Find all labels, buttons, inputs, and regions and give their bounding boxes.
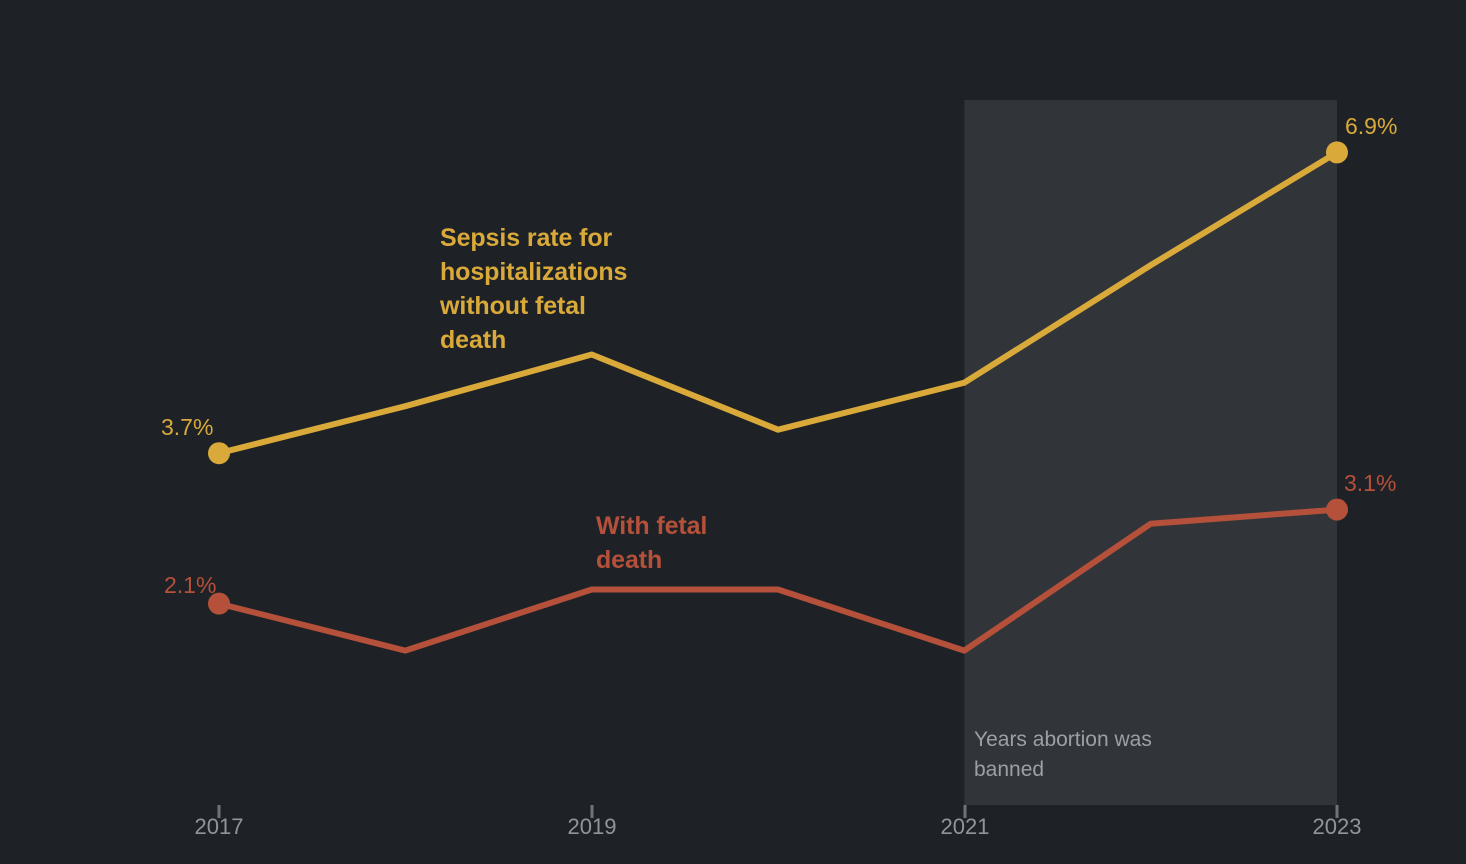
shaded-band-years-abortion-banned [964, 100, 1337, 805]
value-label-no-fetal-death-end: 6.9% [1345, 113, 1397, 140]
x-axis-label-2017: 2017 [195, 814, 244, 840]
x-axis-label-2019: 2019 [568, 814, 617, 840]
x-axis-ticks [219, 805, 1337, 818]
series-label-with-fetal-death: With fetal death [596, 509, 786, 577]
band-annotation-years-abortion-banned: Years abortion was banned [974, 725, 1214, 785]
marker-no-fetal-death-2023 [1326, 141, 1348, 163]
series-label-no-fetal-death: Sepsis rate for hospitalizations without… [440, 221, 670, 357]
x-axis-label-2023: 2023 [1313, 814, 1362, 840]
chart-container: Sepsis rate for hospitalizations without… [0, 0, 1466, 864]
value-label-with-fetal-death-start: 2.1% [164, 572, 216, 599]
line-chart-plot [0, 0, 1466, 864]
value-label-with-fetal-death-end: 3.1% [1344, 470, 1396, 497]
value-label-no-fetal-death-start: 3.7% [161, 414, 213, 441]
marker-with-fetal-death-2023 [1326, 499, 1348, 521]
marker-no-fetal-death-2017 [208, 442, 230, 464]
x-axis-label-2021: 2021 [941, 814, 990, 840]
